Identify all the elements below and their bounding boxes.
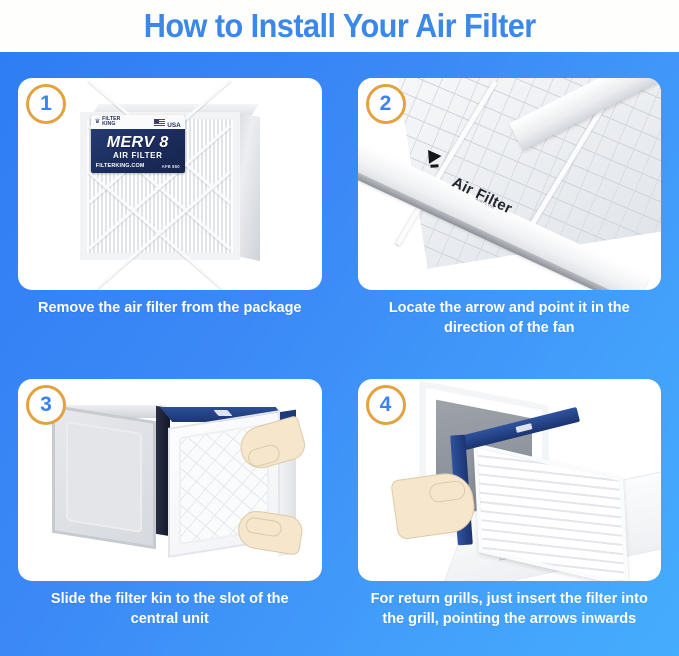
step-4-caption: For return grills, just insert the filte… [368, 589, 652, 629]
step-2-caption: Locate the arrow and point it in the dir… [368, 298, 652, 338]
step-4-card: 4 [358, 379, 662, 581]
step-4: 4 For return grills, just insert the fil… [340, 365, 679, 656]
merv-rating: MERV 8 [91, 134, 185, 152]
brand-logo: ♛ FILTER KING [95, 117, 121, 128]
country-text: USA [167, 122, 181, 129]
air-filter-product-photo: ♛ FILTER KING MADE IN [80, 104, 260, 264]
airflow-arrow-tail [430, 164, 438, 168]
step-1-card: 1 ♛ [18, 78, 322, 290]
product-code: AFB 850 [162, 164, 180, 169]
step-2-badge: 2 [366, 84, 406, 124]
header-band: How to Install Your Air Filter [0, 0, 679, 52]
made-in-usa: MADE IN USA [154, 115, 181, 132]
airflow-direction-arrow-icon [428, 149, 442, 164]
unit-front-face [52, 405, 156, 549]
new-filter-held [168, 405, 300, 553]
step-3-badge: 3 [26, 385, 66, 425]
step-1-caption: Remove the air filter from the package [28, 298, 312, 318]
brand-line-2: KING [102, 121, 115, 127]
usa-flag-icon [154, 119, 165, 126]
usa-text-group: MADE IN USA [167, 115, 181, 132]
label-bottom-strip: FILTERKING.COM AFB 850 [96, 163, 180, 169]
step-2-card: 2 Air Filter AIRFLOW [358, 78, 662, 290]
label-top-strip: ♛ FILTER KING MADE IN [91, 115, 185, 129]
website-text: FILTERKING.COM [96, 163, 145, 169]
product-label: ♛ FILTER KING MADE IN [91, 115, 185, 173]
step-4-badge: 4 [366, 385, 406, 425]
page-title: How to Install Your Air Filter [144, 7, 536, 45]
infographic-page: How to Install Your Air Filter 1 [0, 0, 679, 656]
unit-inner-panel [66, 421, 142, 533]
brand-name: FILTER KING [102, 117, 120, 128]
central-unit-slot [52, 401, 172, 541]
crown-icon: ♛ [95, 119, 100, 125]
step-3: 3 [0, 365, 340, 656]
step-2: 2 Air Filter AIRFLOW Locate the arrow an… [340, 52, 679, 365]
steps-grid: 1 ♛ [0, 52, 679, 656]
step-1-badge: 1 [26, 84, 66, 124]
step-3-card: 3 [18, 379, 322, 581]
product-type: AIR FILTER [91, 151, 185, 160]
step-1: 1 ♛ [0, 52, 340, 365]
step-3-caption: Slide the filter kin to the slot of the … [28, 589, 312, 629]
